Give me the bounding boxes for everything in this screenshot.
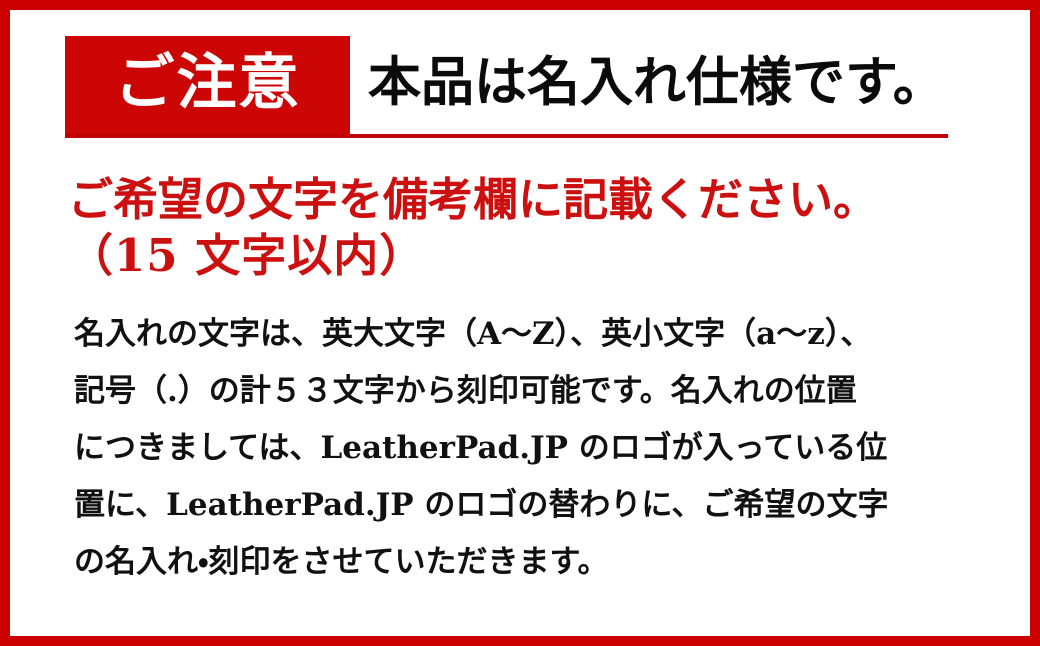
emphasis-line-primary: ご希望の文字を備考欄に記載ください。: [68, 172, 968, 228]
notice-banner: ご注意 本品は名入れ仕様です。 ご希望の文字を備考欄に記載ください。 （15 文…: [0, 0, 1040, 646]
emphasis-line-character-limit: （15 文字以内）: [68, 228, 968, 284]
page-title: 本品は名入れ仕様です。: [350, 36, 946, 134]
header-band: ご注意 本品は名入れ仕様です。: [65, 36, 938, 138]
emphasis-block: ご希望の文字を備考欄に記載ください。 （15 文字以内）: [68, 172, 968, 284]
body-line: につきましては、LeatherPad.JP のロゴが入っている位: [74, 420, 974, 477]
body-line: 記号（.）の計５３文字から刻印可能です。名入れの位置: [74, 363, 974, 420]
body-line: 置に、LeatherPad.JP のロゴの替わりに、ご希望の文字: [74, 477, 974, 534]
body-paragraph: 名入れの文字は、英大文字（A～Z）、英小文字（a～z）、 記号（.）の計５３文字…: [74, 306, 974, 591]
body-line: の名入れ・刻印をさせていただきます。: [74, 534, 974, 591]
attention-badge: ご注意: [65, 36, 350, 134]
body-line: 名入れの文字は、英大文字（A～Z）、英小文字（a～z）、: [74, 306, 974, 363]
header-divider-rule: [65, 134, 948, 138]
header-row: ご注意 本品は名入れ仕様です。: [65, 36, 938, 134]
